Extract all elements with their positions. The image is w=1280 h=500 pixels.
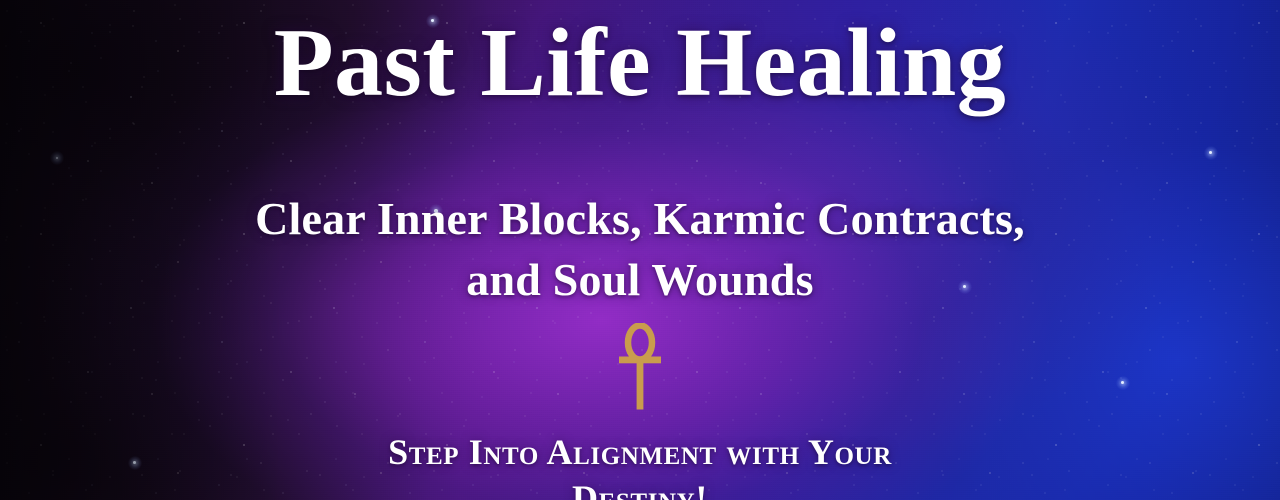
- ankh-symbol-container: [617, 323, 663, 411]
- subtitle-line-1: Clear Inner Blocks, Karmic Contracts,: [255, 188, 1025, 250]
- tagline-line-2: Destiny!: [388, 475, 892, 500]
- ankh-stem: [637, 356, 644, 409]
- banner-content: Past Life Healing Clear Inner Blocks, Ka…: [0, 0, 1280, 500]
- ankh-icon: [617, 323, 663, 411]
- subtitle-line-2: and Soul Wounds: [255, 249, 1025, 311]
- tagline-line-1: Step Into Alignment with Your: [388, 429, 892, 475]
- banner-subtitle: Clear Inner Blocks, Karmic Contracts, an…: [255, 188, 1025, 311]
- past-life-healing-banner: Past Life Healing Clear Inner Blocks, Ka…: [0, 0, 1280, 500]
- ankh-loop: [628, 325, 652, 359]
- banner-tagline: Step Into Alignment with Your Destiny!: [388, 429, 892, 500]
- page-title: Past Life Healing: [274, 14, 1007, 112]
